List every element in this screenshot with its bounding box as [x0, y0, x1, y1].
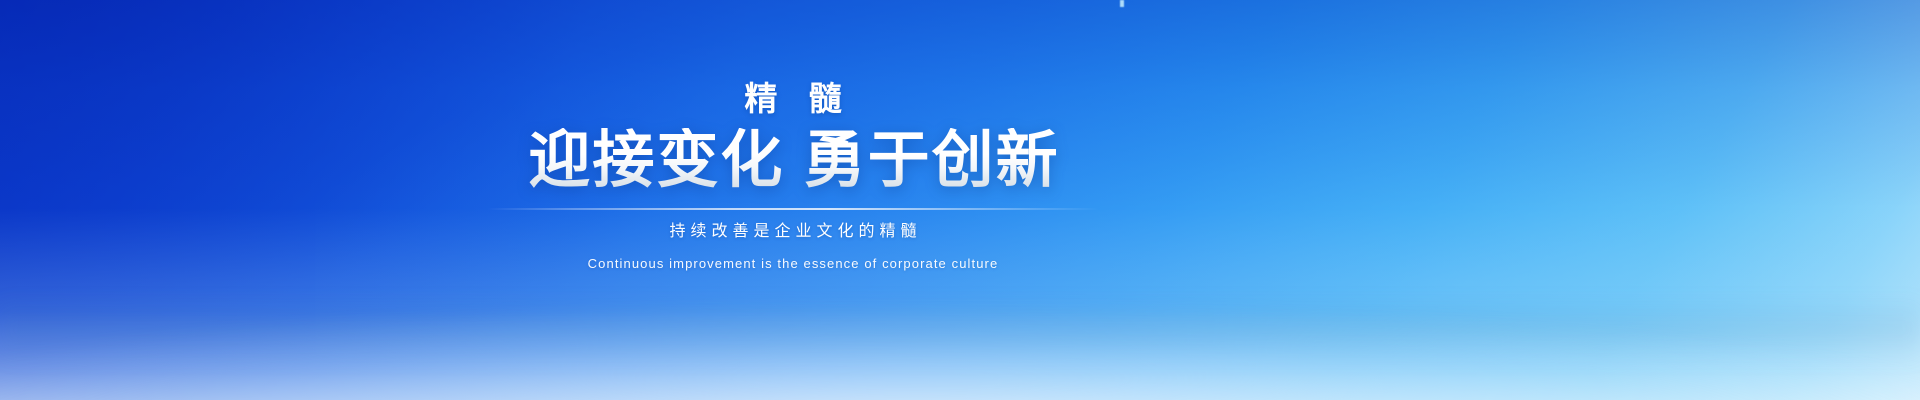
banner-subtitle-chinese: 持续改善是企业文化的精髓: [664, 224, 921, 240]
banner-divider: [487, 208, 1099, 210]
banner-content: 精 髓 迎接变化 勇于创新 持续改善是企业文化的精髓 Continuous im…: [0, 0, 1586, 400]
banner-eyebrow: 精 髓: [733, 82, 852, 115]
banner-subtitle-english: Continuous improvement is the essence of…: [588, 257, 999, 270]
hero-banner: 精 髓 迎接变化 勇于创新 持续改善是企业文化的精髓 Continuous im…: [0, 0, 1920, 400]
banner-headline: 迎接变化 勇于创新: [526, 128, 1059, 194]
